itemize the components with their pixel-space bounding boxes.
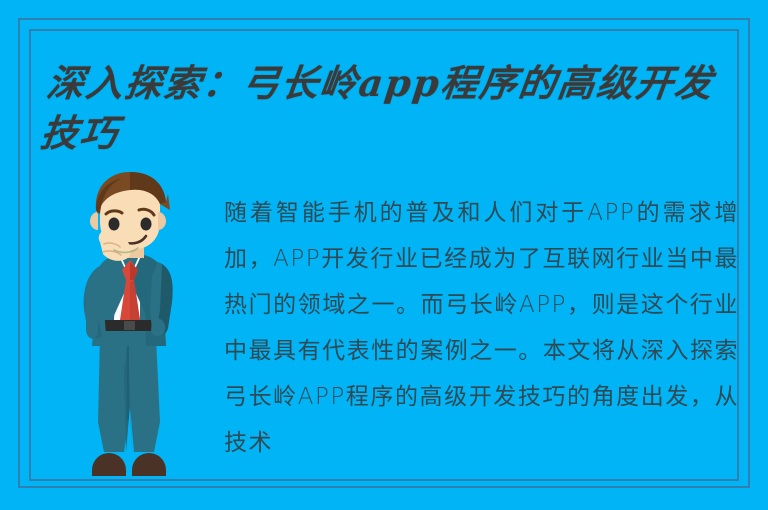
- article-card: 深入探索：弓长岭app程序的高级开发技巧: [0, 0, 768, 510]
- businessman-thinking-illustration: [48, 170, 208, 482]
- article-body: 随着智能手机的普及和人们对于APP的需求增加，APP开发行业已经成为了互联网行业…: [224, 190, 739, 480]
- page-title: 深入探索：弓长岭app程序的高级开发技巧: [38, 58, 750, 158]
